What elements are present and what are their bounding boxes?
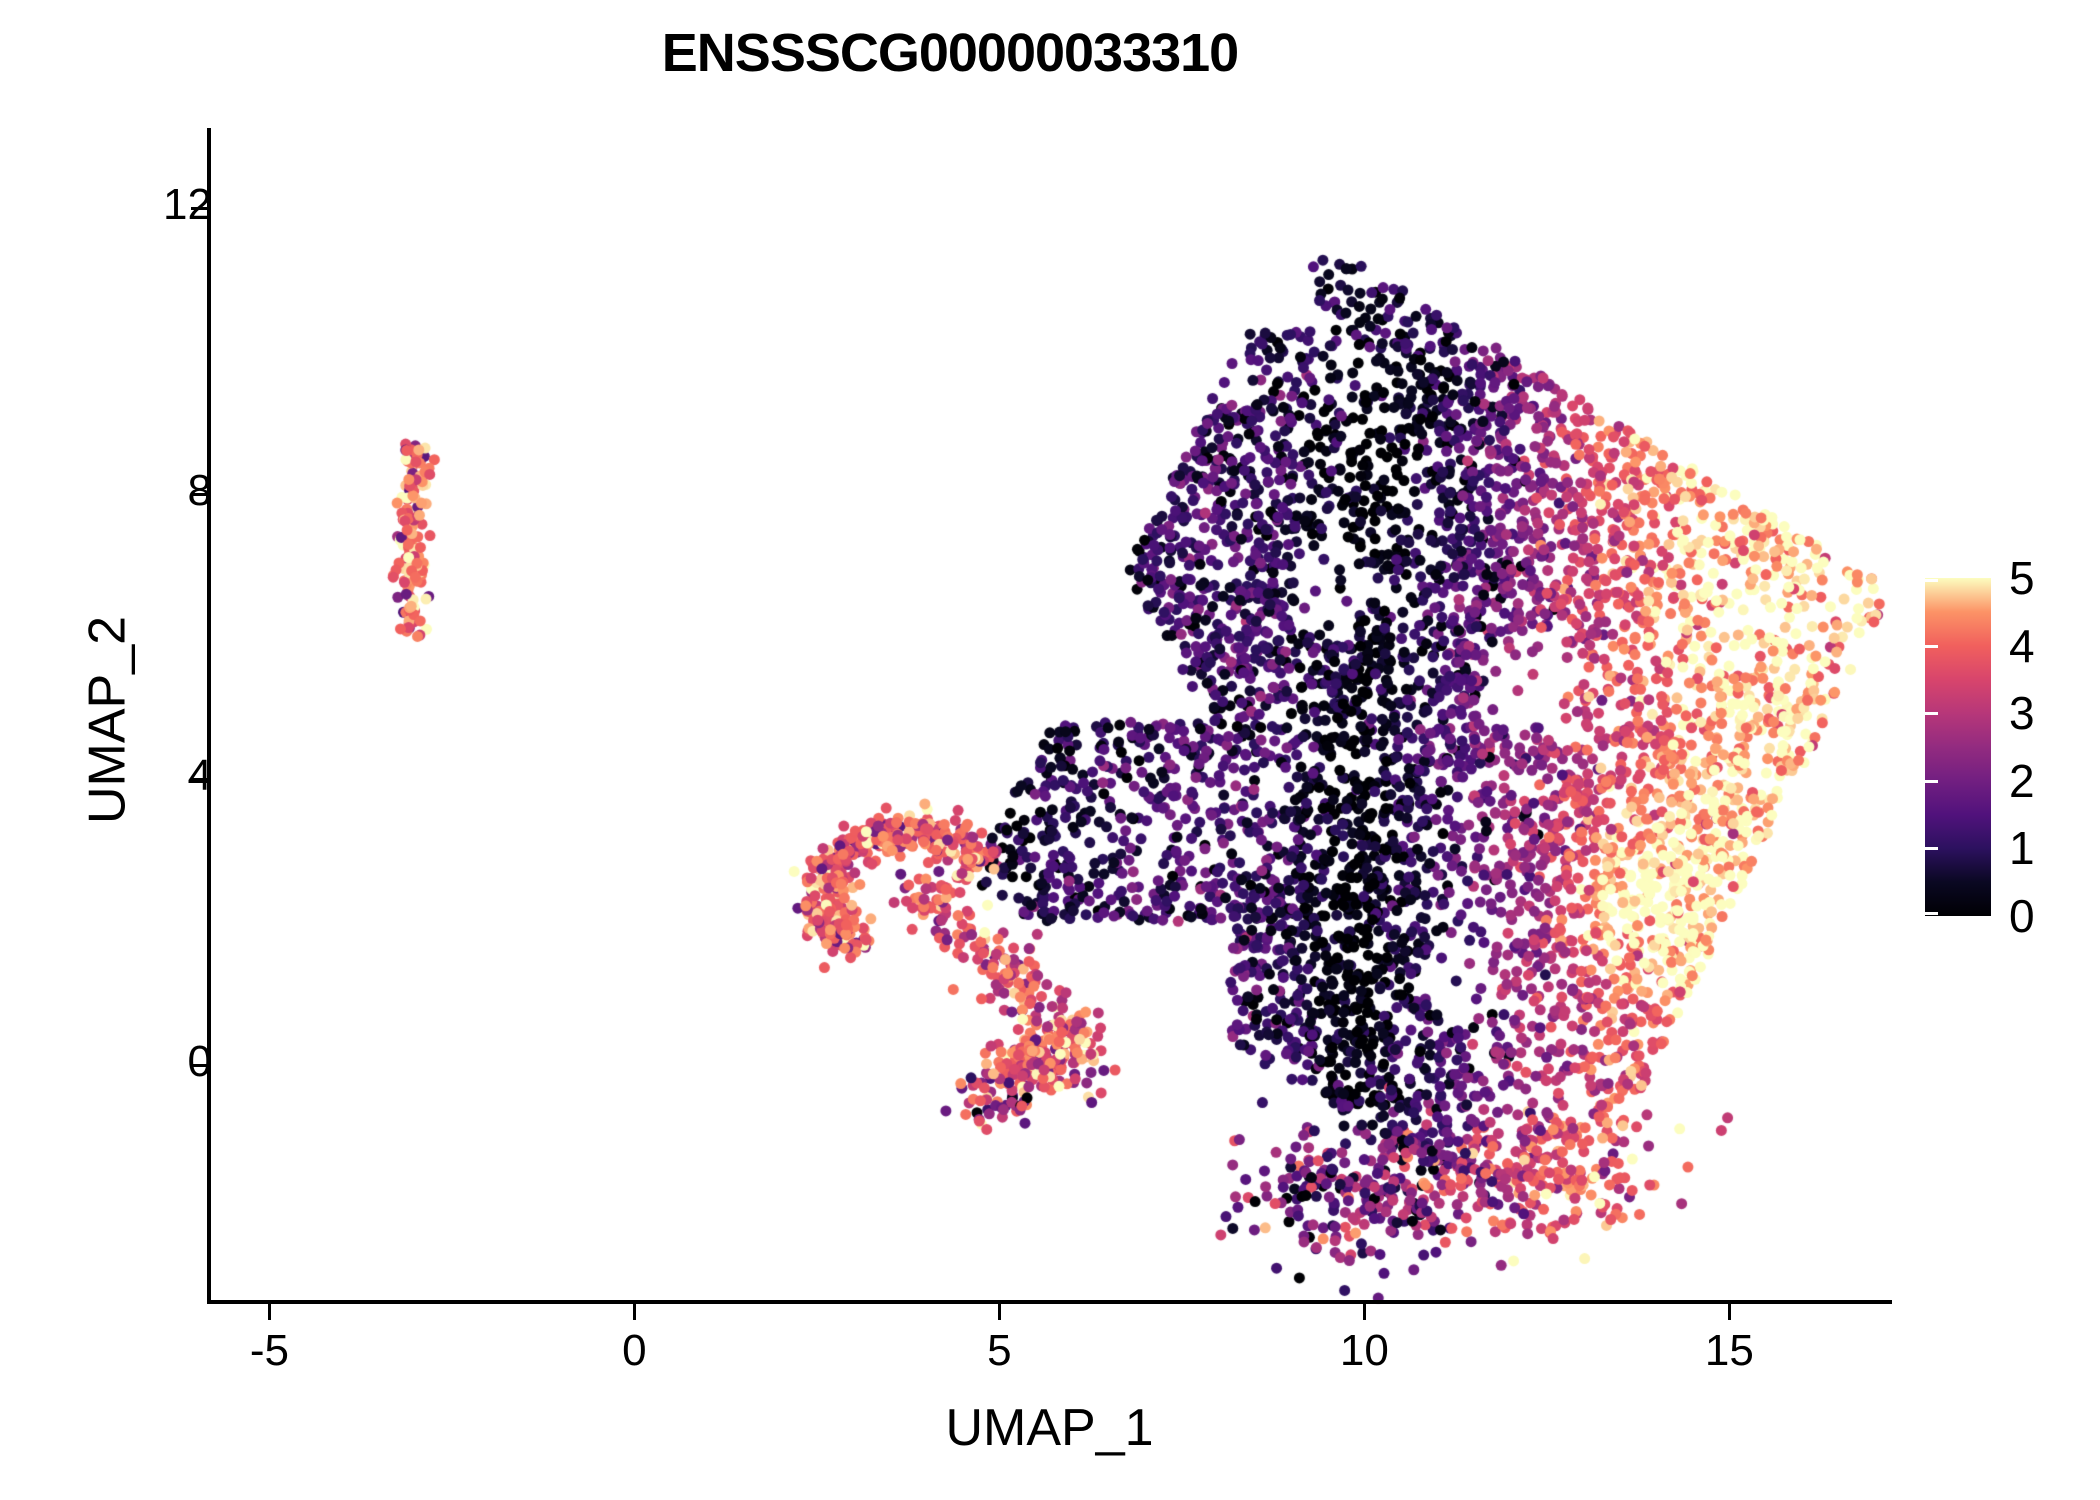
y-axis-title: UMAP_2 bbox=[78, 133, 138, 1308]
x-tick-mark bbox=[268, 1303, 271, 1320]
x-tick-label: 10 bbox=[1340, 1326, 1389, 1376]
colorbar-tick-mark bbox=[1925, 712, 1938, 715]
colorbar-legend: 543210 bbox=[1925, 578, 2085, 923]
colorbar-tick-mark bbox=[2072, 780, 2085, 783]
colorbar-tick-mark bbox=[2072, 912, 2085, 915]
x-axis-line bbox=[207, 1300, 1892, 1304]
y-tick-label: 4 bbox=[188, 751, 212, 801]
colorbar-tick-mark bbox=[1925, 645, 1938, 648]
x-tick-mark bbox=[1363, 1303, 1366, 1320]
colorbar-tick-mark bbox=[2072, 645, 2085, 648]
colorbar-tick-mark bbox=[2072, 847, 2085, 850]
colorbar-tick-mark bbox=[1925, 912, 1938, 915]
y-axis-line bbox=[207, 128, 211, 1303]
scatter-canvas bbox=[0, 0, 2100, 1500]
colorbar-tick-mark bbox=[2072, 579, 2085, 582]
colorbar-tick-label: 2 bbox=[2009, 754, 2035, 808]
colorbar-tick-label: 3 bbox=[2009, 686, 2035, 740]
x-tick-mark bbox=[1728, 1303, 1731, 1320]
colorbar-tick-label: 1 bbox=[2009, 821, 2035, 875]
x-tick-mark bbox=[998, 1303, 1001, 1320]
x-tick-label: 5 bbox=[987, 1326, 1011, 1376]
colorbar-tick-label: 5 bbox=[2009, 551, 2035, 605]
colorbar-tick-label: 0 bbox=[2009, 889, 2035, 943]
colorbar-tick-mark bbox=[1925, 847, 1938, 850]
y-tick-label: 12 bbox=[163, 180, 212, 230]
colorbar-gradient bbox=[1925, 578, 1991, 916]
colorbar-tick-label: 4 bbox=[2009, 619, 2035, 673]
colorbar-tick-mark bbox=[1925, 780, 1938, 783]
x-tick-label: 0 bbox=[622, 1326, 646, 1376]
colorbar-tick-mark bbox=[1925, 579, 1938, 582]
x-tick-label: -5 bbox=[250, 1326, 289, 1376]
x-tick-label: 15 bbox=[1705, 1326, 1754, 1376]
x-tick-mark bbox=[633, 1303, 636, 1320]
y-tick-label: 8 bbox=[188, 466, 212, 516]
colorbar-tick-mark bbox=[2072, 712, 2085, 715]
y-tick-label: 0 bbox=[188, 1037, 212, 1087]
plot-area bbox=[0, 0, 2100, 1500]
chart-root: ENSSSCG00000033310 04812 -5051015 UMAP_1… bbox=[0, 0, 2100, 1500]
x-axis-title: UMAP_1 bbox=[207, 1398, 1892, 1458]
